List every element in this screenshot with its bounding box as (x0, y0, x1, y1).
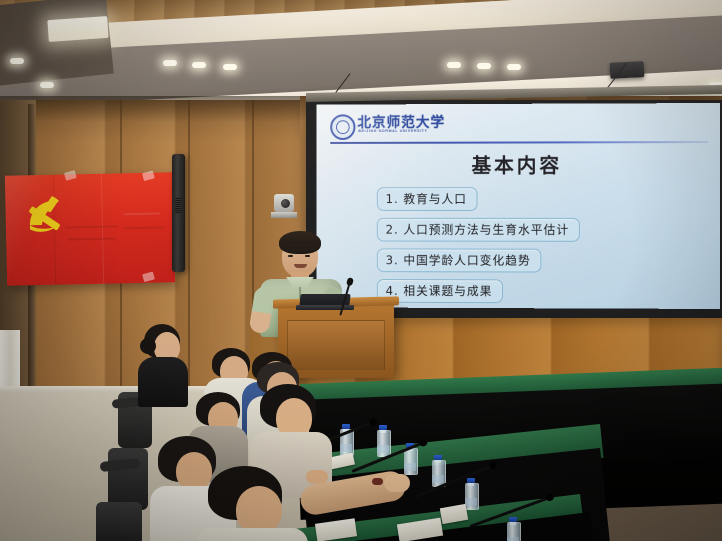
lecture-hall-photo: 北京师范大学 BEIJING NORMAL UNIVERSITY 基本内容 1.… (0, 0, 722, 541)
water-bottle (465, 478, 477, 510)
speaker-grille-icon (175, 198, 182, 214)
downlight-icon (192, 62, 206, 68)
audience-head (236, 486, 282, 534)
ceiling-corner-shadow (0, 0, 114, 86)
slide-bullet-item: 2. 人口预测方法与生育水平估计 (377, 218, 580, 242)
camera-lens-icon (281, 199, 290, 208)
bottle-cap-icon (434, 455, 442, 460)
presenter-hair (279, 231, 321, 254)
audience-torso (138, 357, 188, 407)
column-speaker (172, 154, 185, 272)
ceiling-panel-light (47, 16, 108, 42)
water-bottle (507, 517, 519, 541)
office-chair (108, 448, 148, 510)
downlight-icon (477, 63, 491, 69)
laptop-base (296, 305, 355, 310)
audience-torso (196, 528, 308, 541)
slide-header: 北京师范大学 BEIJING NORMAL UNIVERSITY (330, 109, 708, 144)
flag-tape (142, 170, 155, 181)
downlight-icon (40, 82, 54, 88)
downlight-icon (223, 64, 237, 70)
communist-party-flag (5, 172, 175, 285)
audience-member (300, 470, 410, 541)
wall-seam (188, 100, 190, 400)
downlight-icon (447, 62, 461, 68)
water-bottle (432, 455, 444, 487)
bottle-cap-icon (467, 478, 475, 483)
flag-tape (64, 170, 77, 181)
bottle-cap-icon (379, 425, 387, 430)
hammer-and-sickle-icon (21, 190, 78, 243)
bnu-logo-icon (330, 114, 355, 140)
projection-screen: 北京师范大学 BEIJING NORMAL UNIVERSITY 基本内容 1.… (317, 103, 720, 309)
bottle-cap-icon (342, 424, 350, 429)
wrist-bracelet (372, 478, 383, 485)
bottle-cap-icon (509, 517, 517, 522)
audience-member (134, 324, 188, 404)
slide-bullet-list: 1. 教育与人口 2. 人口预测方法与生育水平估计 3. 中国学龄人口变化趋势 … (377, 187, 680, 304)
audience-member (196, 466, 306, 541)
audience-hand (384, 474, 410, 492)
water-bottle (377, 425, 389, 457)
downlight-icon (507, 64, 521, 70)
downlight-icon (163, 60, 177, 66)
office-chair (96, 502, 142, 541)
presenter-eye (305, 255, 310, 257)
slide-bullet-item: 1. 教育与人口 (377, 187, 478, 211)
downlight-icon (10, 58, 24, 64)
slide-bullet-item: 3. 中国学龄人口变化趋势 (377, 248, 542, 272)
flag-tape (142, 271, 155, 282)
ptz-camera (271, 194, 297, 218)
audience-bun (140, 338, 156, 354)
presenter-eye (288, 255, 293, 257)
slide-title: 基本内容 (317, 149, 720, 178)
slide-divider (330, 141, 708, 144)
bnu-logo-english: BEIJING NORMAL UNIVERSITY (358, 129, 427, 133)
presenter-mouth (294, 264, 307, 268)
